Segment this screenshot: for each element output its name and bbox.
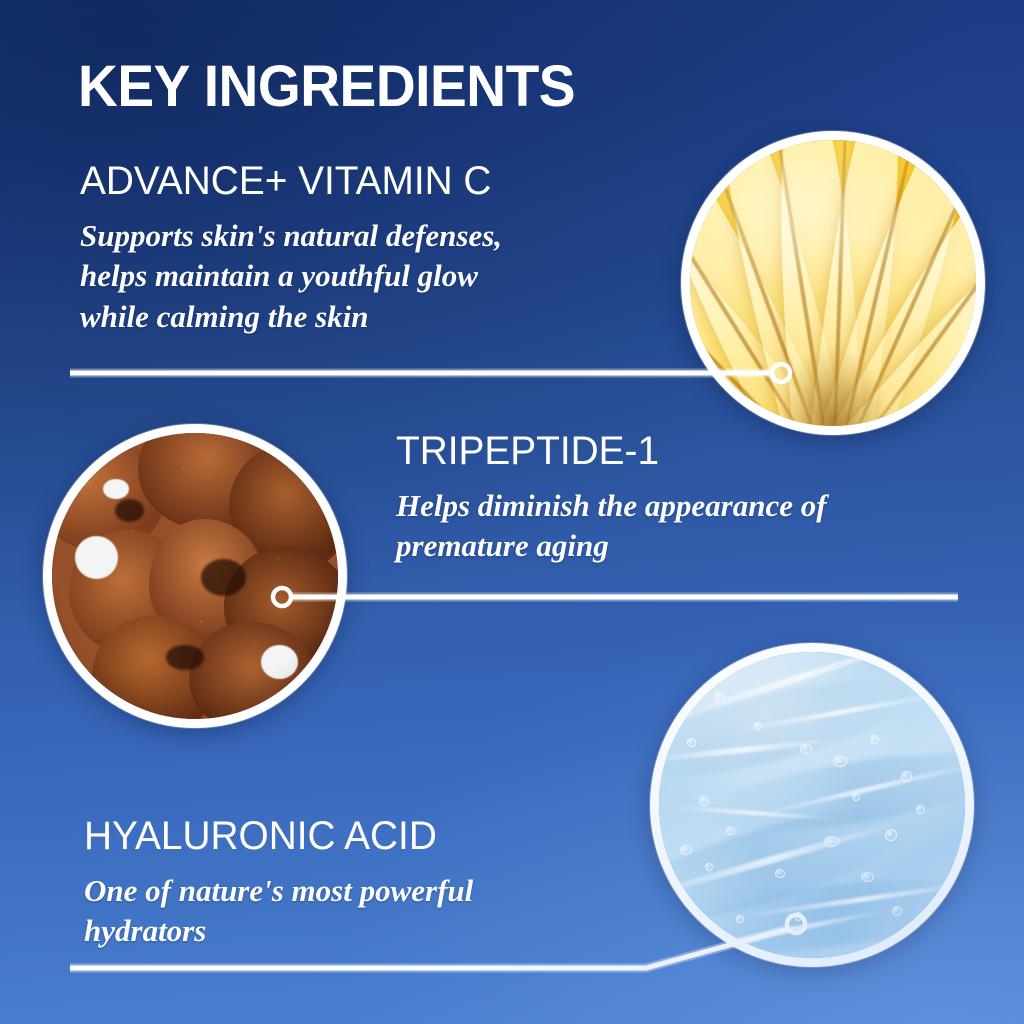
description-line: Helps diminish the appearance of xyxy=(396,486,827,526)
ingredient-block-tripeptide: TRIPEPTIDE-1 Helps diminish the appearan… xyxy=(396,430,827,567)
ingredient-description-tripeptide: Helps diminish the appearance of prematu… xyxy=(396,486,827,567)
ingredient-block-hyaluronic-acid: HYALURONIC ACID One of nature's most pow… xyxy=(84,815,473,952)
description-line: Supports skin's natural defenses, xyxy=(80,216,504,256)
description-line: helps maintain a youthful glow xyxy=(80,256,504,296)
description-line: One of nature's most powerful xyxy=(84,871,473,911)
connector-tripeptide xyxy=(273,588,958,606)
ingredient-name-hyaluronic-acid: HYALURONIC ACID xyxy=(84,815,462,857)
ingredient-name-vitamin-c: ADVANCE+ VITAMIN C xyxy=(80,160,491,202)
page-title: KEY INGREDIENTS xyxy=(78,58,575,116)
ingredient-description-hyaluronic-acid: One of nature's most powerful hydrators xyxy=(84,871,473,952)
connector-vitamin-c xyxy=(70,364,790,382)
ingredient-block-vitamin-c: ADVANCE+ VITAMIN C Supports skin's natur… xyxy=(80,160,504,337)
description-line: hydrators xyxy=(84,911,473,951)
description-line: while calming the skin xyxy=(80,297,504,337)
ingredient-description-vitamin-c: Supports skin's natural defenses, helps … xyxy=(80,216,504,337)
ingredient-name-tripeptide: TRIPEPTIDE-1 xyxy=(396,430,814,472)
description-line: premature aging xyxy=(396,526,827,566)
ingredients-infographic: KEY INGREDIENTS ADVANCE+ VITAMIN C Suppo… xyxy=(0,0,1024,1024)
